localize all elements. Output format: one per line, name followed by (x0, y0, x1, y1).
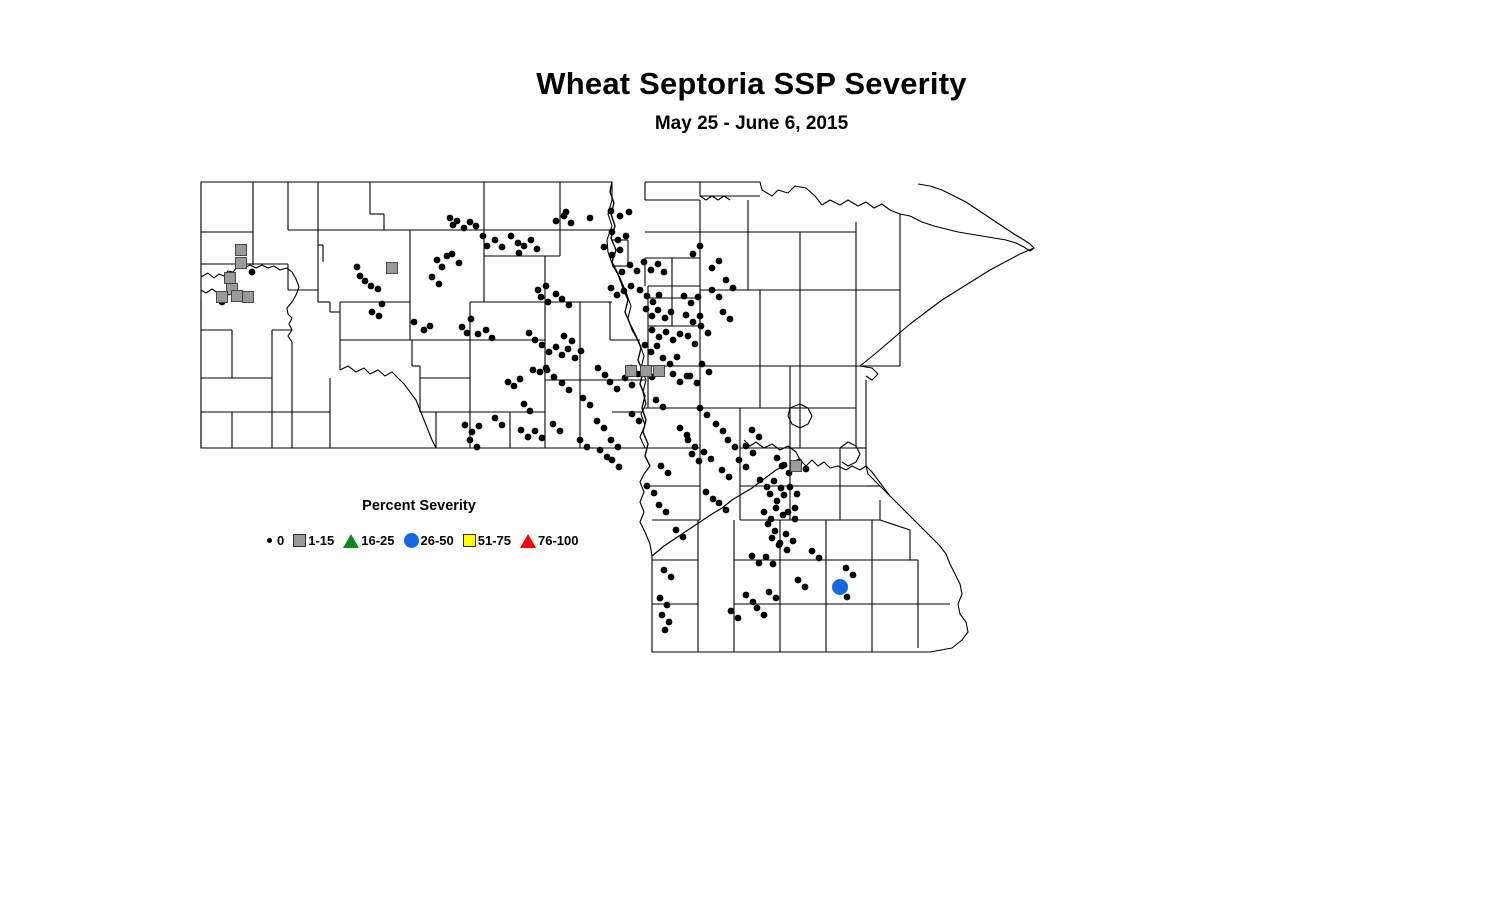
legend-label-1-15: 1-15 (308, 534, 334, 547)
legend-label-0: 0 (277, 534, 284, 547)
severity-1-15-square-icon (293, 534, 306, 547)
points-severity-26-50 (832, 579, 848, 595)
severity-16-25-triangle-icon (343, 534, 359, 548)
legend: Percent Severity 0 1-15 16-25 26-50 51-7… (258, 498, 598, 548)
points-severity-1-15 (217, 245, 802, 472)
legend-item-51-75: 51-75 (463, 534, 511, 547)
legend-title: Percent Severity (258, 498, 580, 514)
legend-items: 0 1-15 16-25 26-50 51-75 76-100 (264, 533, 598, 548)
legend-item-26-50: 26-50 (404, 533, 454, 548)
legend-label-51-75: 51-75 (478, 534, 511, 547)
legend-label-26-50: 26-50 (421, 534, 454, 547)
severity-51-75-square-icon (463, 534, 476, 547)
severity-map (0, 0, 1503, 900)
severity-0-dot-icon (267, 538, 272, 543)
legend-label-76-100: 76-100 (538, 534, 578, 547)
severity-76-100-triangle-icon (520, 534, 536, 548)
map-page: Wheat Septoria SSP Severity May 25 - Jun… (0, 0, 1503, 900)
severity-26-50-circle-icon (404, 533, 419, 548)
legend-item-16-25: 16-25 (343, 534, 394, 548)
legend-item-0: 0 (264, 534, 284, 547)
county-boundaries (201, 182, 1034, 652)
points-severity-0 (219, 208, 857, 634)
legend-label-16-25: 16-25 (361, 534, 394, 547)
legend-item-76-100: 76-100 (520, 534, 578, 548)
legend-item-1-15: 1-15 (293, 534, 334, 547)
